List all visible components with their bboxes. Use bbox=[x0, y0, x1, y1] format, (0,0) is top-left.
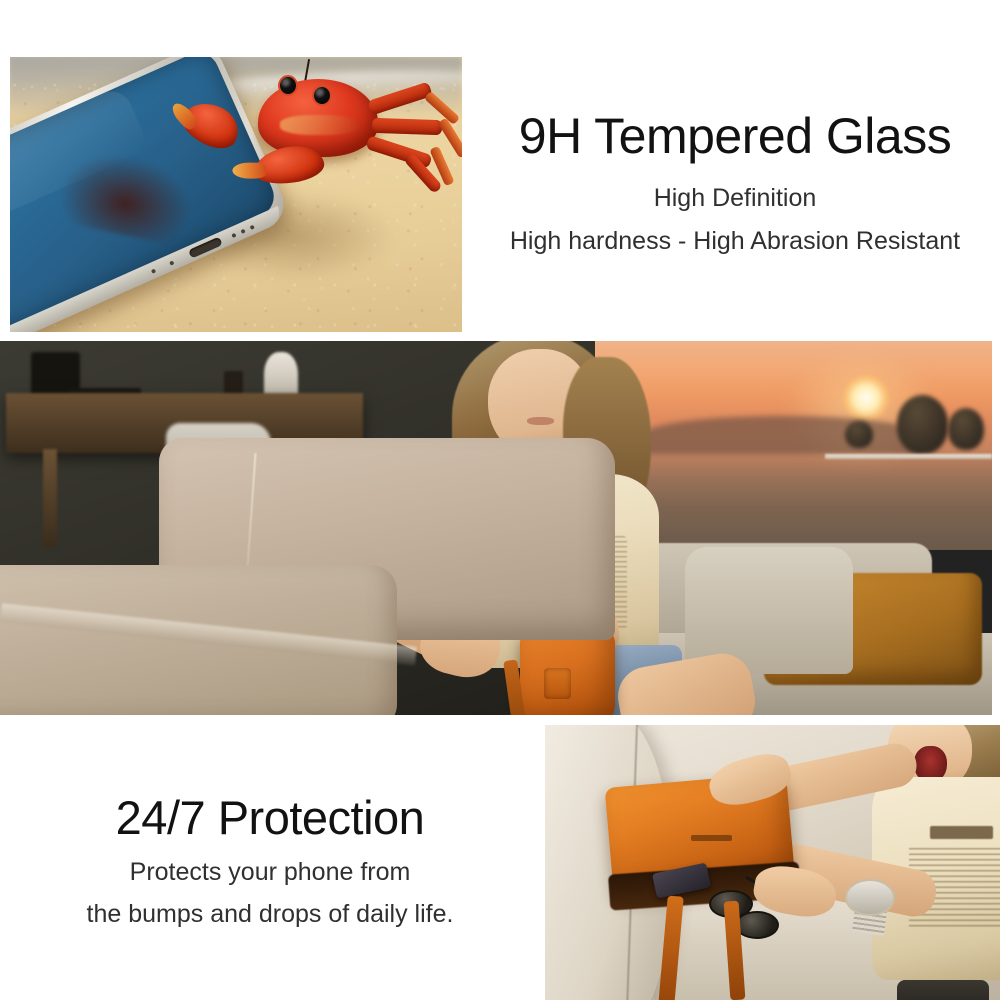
bag-logo bbox=[691, 835, 732, 841]
tree bbox=[948, 408, 984, 450]
image-crab-on-phone bbox=[10, 57, 462, 332]
headline-tempered-glass: 9H Tempered Glass High Definition High h… bbox=[480, 110, 990, 256]
headline-protection: 24/7 Protection Protects your phone from… bbox=[30, 793, 510, 929]
crab-eye-left bbox=[278, 75, 298, 96]
headline-subtitle-2: High hardness - High Abrasion Resistant bbox=[480, 227, 990, 256]
bag-front-pocket bbox=[544, 668, 572, 699]
headline-subtitle-2: the bumps and drops of daily life. bbox=[30, 900, 510, 929]
tree bbox=[897, 395, 949, 454]
crab-leg bbox=[367, 81, 433, 115]
tree bbox=[845, 421, 873, 448]
headline-subtitle-1: Protects your phone from bbox=[30, 858, 510, 887]
headline-subtitle-1: High Definition bbox=[480, 184, 990, 213]
sunglasses-lens bbox=[735, 911, 779, 939]
dark-shorts bbox=[897, 980, 989, 1000]
crab-leg bbox=[372, 118, 442, 135]
image-bag-spilling bbox=[545, 725, 1000, 1000]
headline-title: 9H Tempered Glass bbox=[480, 110, 990, 162]
tank-top-logo-text bbox=[930, 826, 993, 838]
balcony-rail bbox=[825, 454, 992, 459]
product-feature-page: 9H Tempered Glass High Definition High h… bbox=[0, 0, 1000, 1000]
image-woman-phone-into-bag bbox=[0, 341, 992, 715]
sun bbox=[843, 375, 889, 421]
red-crab bbox=[200, 63, 450, 273]
headline-title: 24/7 Protection bbox=[30, 793, 510, 842]
crab-eye-right bbox=[312, 85, 332, 106]
console-leg bbox=[43, 449, 57, 546]
wristwatch bbox=[845, 879, 895, 916]
